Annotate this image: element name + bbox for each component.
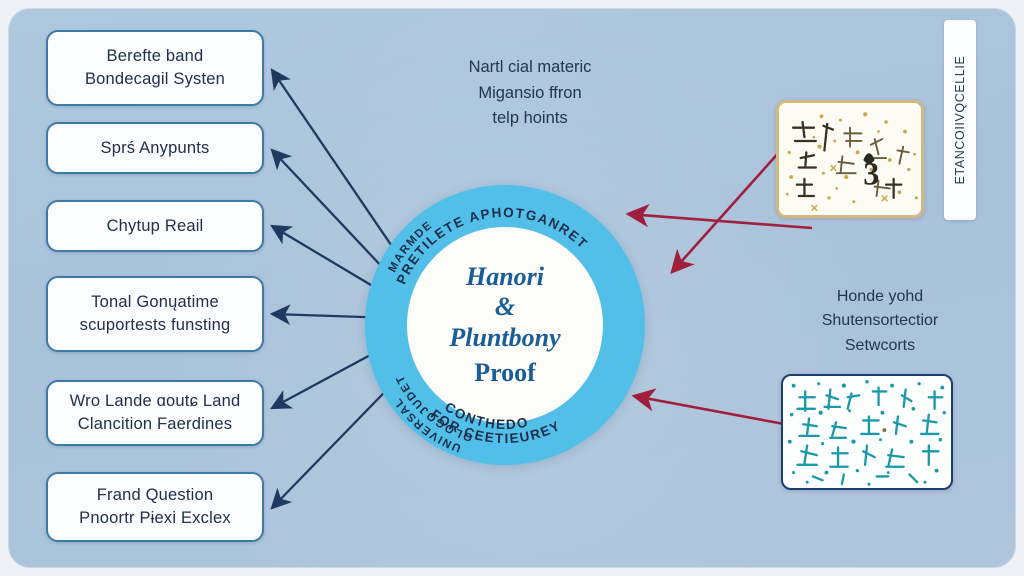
right-caption-line-2: Shutensortectior [775,309,985,333]
left-box-6[interactable]: Frand Question Pnoortr Pɨexi Exclex [46,472,264,542]
diagram-canvas: Berefte band Bondecagil Systen Sprś Anyp… [0,0,1024,576]
top-caption-line-1: Nartl cial materic [415,55,645,81]
left-box-2[interactable]: Sprś Anypunts [46,122,264,174]
left-box-1[interactable]: Berefte band Bondecagil Systen [46,30,264,106]
ring-label-layer: MARMDE PRETILETE APHOTGANRET CONTHEDO FO… [365,185,645,465]
top-caption-line-2: Migansio ffron [415,81,645,107]
left-box-5-line-1: Wro Lande ɑoutɕ Land [70,390,241,413]
left-box-5-line-2: Clancition Faerdines [70,413,241,436]
top-caption: Nartl cial materic Migansio ffron telp h… [415,55,645,132]
left-box-4-line-1: Tonal Gonųatime [80,291,231,314]
right-caption-line-3: Setwcorts [775,334,985,358]
left-box-1-line-2: Bondecagil Systen [85,68,225,91]
left-box-4-line-2: scuportests funsting [80,314,231,337]
left-box-3-line-1: Chytup Reail [107,215,204,238]
teal-marks-panel[interactable] [781,374,953,490]
gold-manuscript-panel[interactable]: 3 [776,100,924,218]
teal-panel-marks-icon [783,376,951,488]
right-caption: Honde yohd Shutensortectior Setwcorts [775,285,985,358]
left-box-5[interactable]: Wro Lande ɑoutɕ Land Clancition Faerdine… [46,380,264,446]
gold-panel-marks-icon: 3 [779,103,921,215]
ring-label-top-inner: PRETILETE APHOTGANRET [394,205,592,287]
top-caption-line-3: telp hoints [415,106,645,132]
left-box-6-line-2: Pnoortr Pɨexi Exclex [79,507,231,530]
left-box-1-line-1: Berefte band [85,45,225,68]
left-box-2-line-1: Sprś Anypunts [101,137,210,160]
svg-text:3: 3 [863,156,879,192]
left-box-6-line-1: Frand Question [79,484,231,507]
vertical-side-tab-label: ETANCOIIVQCELLIE [953,56,967,185]
left-box-4[interactable]: Tonal Gonųatime scuportests funsting [46,276,264,352]
right-caption-line-1: Honde yohd [775,285,985,309]
left-box-3[interactable]: Chytup Reail [46,200,264,252]
vertical-side-tab[interactable]: ETANCOIIVQCELLIE [944,20,976,220]
